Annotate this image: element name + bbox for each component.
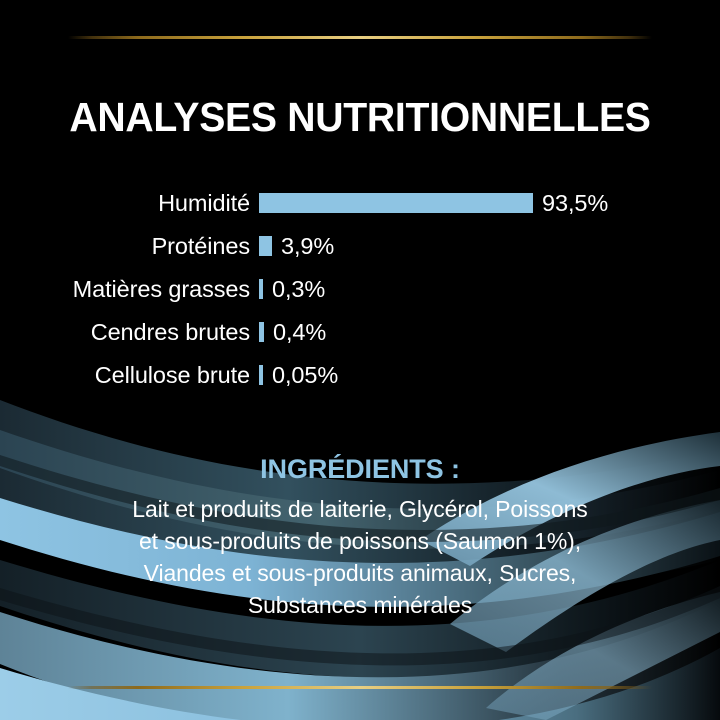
nutrient-label-matieres-grasses: Matières grasses [0, 276, 250, 302]
ingredients-line: Lait et produits de laiterie, Glycérol, … [0, 493, 720, 525]
table-row: Protéines 3,9% [0, 224, 720, 267]
nutrient-bar-matieres-grasses [259, 279, 263, 299]
ingredients-line: Substances minérales [0, 589, 720, 621]
ingredients-section: INGRÉDIENTS : Lait et produits de laiter… [0, 452, 720, 621]
table-row: Humidité 93,5% [0, 181, 720, 224]
nutrient-value-cellulose-brute: 0,05% [272, 362, 338, 388]
nutrition-panel: ANALYSES NUTRITIONNELLES Humidité 93,5% … [0, 0, 720, 720]
nutrient-value-matieres-grasses: 0,3% [272, 276, 325, 302]
bar-track [259, 193, 533, 213]
ingredients-heading: INGRÉDIENTS : [0, 452, 720, 486]
bar-track [259, 236, 272, 256]
bar-track [259, 322, 264, 342]
nutrient-value-cendres-brutes: 0,4% [273, 319, 326, 345]
nutrient-label-proteines: Protéines [0, 233, 250, 259]
ingredients-line: Viandes et sous-produits animaux, Sucres… [0, 557, 720, 589]
table-row: Matières grasses 0,3% [0, 267, 720, 310]
nutrient-value-proteines: 3,9% [281, 233, 334, 259]
nutrient-label-humidite: Humidité [0, 190, 250, 216]
bar-track [259, 365, 263, 385]
nutrition-analysis-table: Humidité 93,5% Protéines 3,9% Matières g… [0, 181, 720, 396]
nutrient-bar-cellulose-brute [259, 365, 263, 385]
ingredients-line: et sous-produits de poissons (Saumon 1%)… [0, 525, 720, 557]
page-title: ANALYSES NUTRITIONNELLES [16, 93, 704, 141]
nutrient-label-cendres-brutes: Cendres brutes [0, 319, 250, 345]
nutrient-label-cellulose-brute: Cellulose brute [0, 362, 250, 388]
bar-track [259, 279, 263, 299]
nutrient-value-humidite: 93,5% [542, 190, 608, 216]
nutrient-bar-humidite [259, 193, 533, 213]
table-row: Cellulose brute 0,05% [0, 353, 720, 396]
nutrient-bar-proteines [259, 236, 272, 256]
nutrient-bar-cendres-brutes [259, 322, 264, 342]
table-row: Cendres brutes 0,4% [0, 310, 720, 353]
divider-bottom [68, 686, 652, 689]
divider-top [68, 36, 652, 39]
